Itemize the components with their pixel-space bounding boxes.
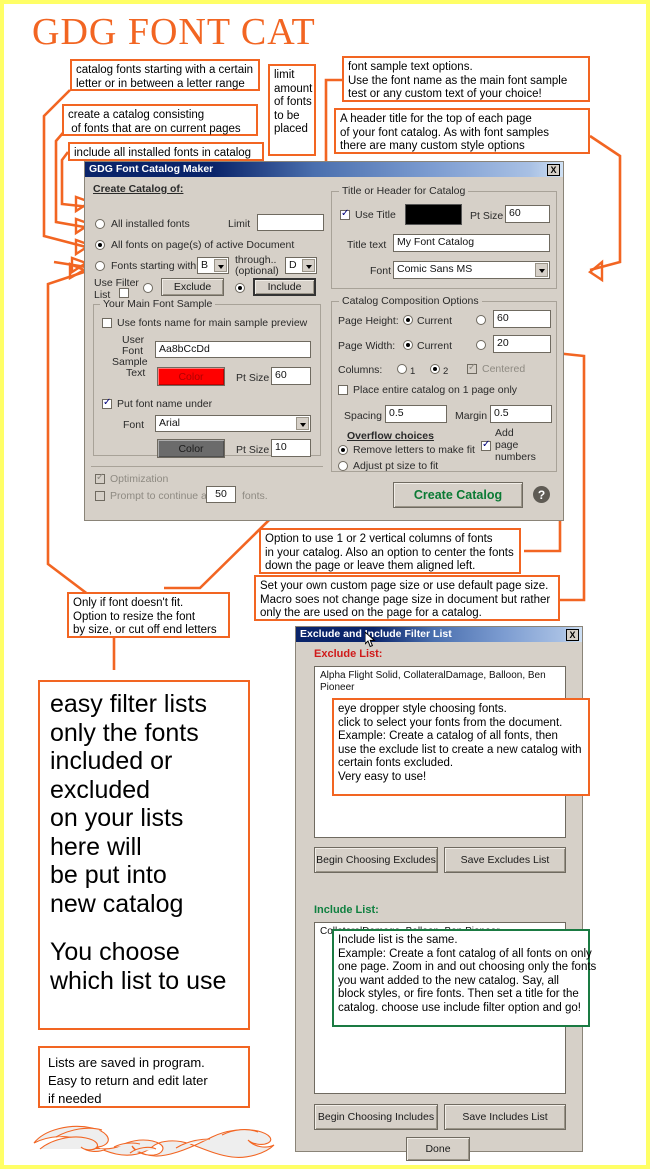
big-filter-lists-text: easy filter lists only the fonts include…	[38, 680, 250, 1030]
note-font-sample-options: font sample text options.Use the font na…	[342, 56, 590, 102]
help-icon[interactable]: ?	[533, 486, 550, 503]
use-title-checkbox[interactable]	[340, 210, 350, 220]
radio-include[interactable]	[235, 283, 245, 293]
columns-label: Columns:	[338, 364, 382, 376]
title-text-input[interactable]: My Font Catalog	[393, 234, 550, 252]
use-font-name-label: Use fonts name for main sample preview	[117, 317, 307, 329]
columns-1-label: 1	[410, 366, 415, 377]
use-filter-label-line1: Use Filter	[94, 277, 139, 289]
prompt-to-continue-label: Prompt to continue at	[110, 490, 210, 502]
radio-columns-2[interactable]	[430, 364, 440, 374]
close-icon[interactable]: X	[566, 629, 579, 641]
prompt-to-continue-checkbox[interactable]	[95, 491, 105, 501]
note-eye-dropper: eye dropper style choosing fonts.click t…	[332, 698, 590, 796]
title-ptsize-input[interactable]: 60	[505, 205, 550, 223]
sample-ptsize-input[interactable]: 60	[271, 367, 311, 385]
note-all-installed: include all installed fonts in catalog	[68, 142, 264, 161]
add-page-numbers-checkbox[interactable]	[481, 441, 491, 451]
sample-label-text: Text	[126, 367, 145, 379]
add-page-numbers-line2: page	[495, 439, 518, 451]
radio-adjust-pt-size[interactable]	[338, 461, 348, 471]
label-fonts-starting-with: Fonts starting with	[111, 260, 196, 272]
page-title: GDG FONT CAT	[32, 10, 316, 54]
begin-choosing-includes-button[interactable]: Begin Choosing Includes	[314, 1104, 438, 1130]
optimization-label: Optimization	[110, 473, 168, 485]
sample-color-button[interactable]: Color	[157, 367, 225, 386]
radio-remove-letters[interactable]	[338, 445, 348, 455]
include-button[interactable]: Include	[253, 278, 316, 296]
note-overflow: Only if font doesn't fit.Option to resiz…	[67, 592, 230, 638]
radio-all-installed-fonts[interactable]	[95, 219, 105, 229]
note-columns: Option to use 1 or 2 vertical columns of…	[259, 528, 521, 574]
title-header-group-label: Title or Header for Catalog	[339, 185, 468, 197]
title-font-combo[interactable]: Comic Sans MS	[393, 261, 550, 279]
overflow-choices-label: Overflow choices	[347, 430, 434, 442]
use-filter-list-checkbox[interactable]	[119, 288, 129, 298]
chevron-down-icon[interactable]	[302, 259, 315, 272]
name-color-button[interactable]: Color	[157, 439, 225, 458]
prompt-fonts-input[interactable]: 50	[206, 486, 236, 503]
note-letter-range: catalog fonts starting with a certainlet…	[70, 59, 260, 91]
save-excludes-list-button[interactable]: Save Excludes List	[444, 847, 566, 873]
label-all-fonts-active-document: All fonts on page(s) of active Document	[111, 239, 294, 251]
note-current-pages: create a catalog consisting of fonts tha…	[62, 104, 258, 136]
exclude-list-heading: Exclude List:	[314, 648, 382, 660]
add-page-numbers-line1: Add	[495, 427, 514, 439]
main-font-sample-group-label: Your Main Font Sample	[100, 298, 215, 310]
begin-choosing-excludes-button[interactable]: Begin Choosing Excludes	[314, 847, 438, 873]
note-lists-saved: Lists are saved in program.Easy to retur…	[38, 1046, 250, 1108]
radio-page-width-current[interactable]	[403, 340, 413, 350]
note-include-list: Include list is the same.Example: Create…	[332, 929, 590, 1027]
centered-checkbox[interactable]	[467, 364, 477, 374]
radio-page-height-current[interactable]	[403, 315, 413, 325]
label-all-installed-fonts: All installed fonts	[111, 218, 190, 230]
title-text-label: Title text	[347, 239, 386, 251]
name-font-combo[interactable]: Arial	[155, 415, 311, 432]
add-page-numbers-line3: numbers	[495, 451, 536, 463]
limit-input[interactable]	[257, 214, 324, 231]
page-height-input[interactable]: 60	[493, 310, 551, 328]
create-catalog-button[interactable]: Create Catalog	[393, 482, 523, 508]
save-includes-list-button[interactable]: Save Includes List	[444, 1104, 566, 1130]
include-list-heading: Include List:	[314, 904, 379, 916]
title-ptsize-label: Pt Size	[470, 210, 503, 222]
chevron-down-icon[interactable]	[535, 263, 548, 277]
remove-letters-label: Remove letters to make fit	[353, 444, 475, 456]
margin-input[interactable]: 0.5	[490, 405, 552, 423]
sample-text-input[interactable]: Aa8bCcDd	[155, 341, 311, 358]
main-dialog-title: GDG Font Catalog Maker	[89, 163, 213, 175]
page-width-current-label: Current	[417, 340, 452, 352]
title-font-label: Font	[370, 265, 391, 277]
main-dialog-titlebar[interactable]: GDG Font Catalog Maker X	[85, 162, 563, 177]
catalog-composition-group-label: Catalog Composition Options	[339, 295, 482, 307]
name-font-label: Font	[123, 419, 144, 431]
spacing-label: Spacing	[344, 410, 382, 422]
radio-page-width-custom[interactable]	[476, 340, 486, 350]
one-page-only-label: Place entire catalog on 1 page only	[353, 384, 517, 396]
title-color-swatch[interactable]	[405, 204, 462, 225]
sample-ptsize-label: Pt Size	[236, 372, 269, 384]
page-height-current-label: Current	[417, 315, 452, 327]
name-ptsize-label: Pt Size	[236, 444, 269, 456]
centered-label: Centered	[482, 363, 525, 375]
note-limit: limitamount of fontsto be placed	[268, 64, 316, 156]
one-page-only-checkbox[interactable]	[338, 385, 348, 395]
put-font-name-under-checkbox[interactable]	[102, 399, 112, 409]
prompt-suffix-label: fonts.	[242, 490, 268, 502]
limit-label: Limit	[228, 218, 250, 230]
chevron-down-icon[interactable]	[214, 259, 227, 272]
through-label-line2: (optional)	[235, 265, 279, 277]
close-icon[interactable]: X	[547, 164, 560, 176]
name-ptsize-input[interactable]: 10	[271, 439, 311, 457]
done-button[interactable]: Done	[406, 1137, 470, 1161]
note-page-size: Set your own custom page size or use def…	[254, 575, 560, 621]
optimization-checkbox[interactable]	[95, 474, 105, 484]
adjust-pt-size-label: Adjust pt size to fit	[353, 460, 438, 472]
poster-root: GDG FONT CAT	[0, 0, 650, 1169]
exclude-button[interactable]: Exclude	[161, 278, 224, 296]
page-width-label: Page Width:	[338, 340, 395, 352]
end-letter-combo[interactable]: D	[285, 257, 317, 274]
use-title-label: Use Title	[355, 209, 396, 221]
radio-all-fonts-active-document[interactable]	[95, 240, 105, 250]
radio-exclude[interactable]	[143, 283, 153, 293]
radio-fonts-starting-with[interactable]	[95, 261, 105, 271]
chevron-down-icon[interactable]	[296, 417, 309, 430]
use-font-name-checkbox[interactable]	[102, 318, 112, 328]
radio-page-height-custom[interactable]	[476, 315, 486, 325]
columns-2-label: 2	[443, 366, 448, 377]
gdg-flame-logo-icon	[26, 1117, 276, 1167]
spacing-input[interactable]: 0.5	[385, 405, 447, 423]
filter-dialog-titlebar[interactable]: Exclude and Include Filter List X	[296, 627, 582, 642]
note-header-title: A header title for the top of each pageo…	[334, 108, 590, 154]
start-letter-combo[interactable]: B	[197, 257, 229, 274]
mouse-cursor-icon	[365, 632, 376, 648]
create-catalog-of-label: Create Catalog of:	[93, 183, 183, 195]
margin-label: Margin	[455, 410, 487, 422]
gdg-font-catalog-maker-dialog: GDG Font Catalog Maker X Create Catalog …	[84, 161, 564, 521]
page-width-input[interactable]: 20	[493, 335, 551, 353]
radio-columns-1[interactable]	[397, 364, 407, 374]
page-height-label: Page Height:	[338, 315, 399, 327]
put-font-name-under-label: Put font name under	[117, 398, 212, 410]
